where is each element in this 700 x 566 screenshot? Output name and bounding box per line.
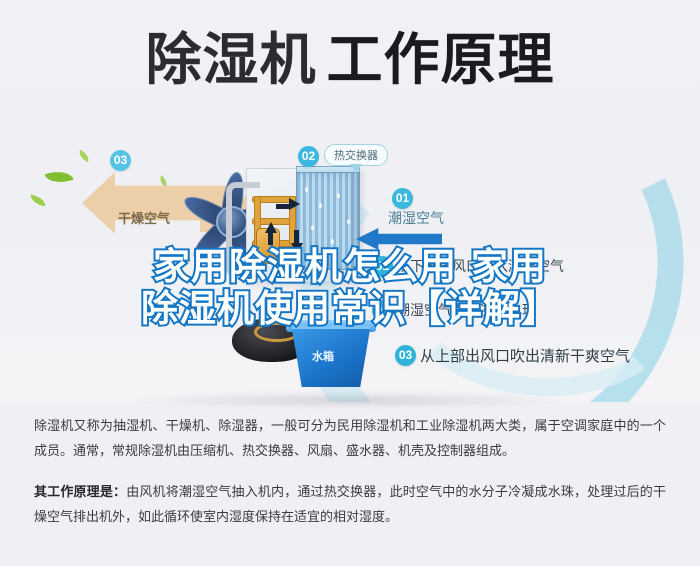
airflow-arrow-up [265, 222, 277, 233]
heat-exchanger-callout: 热交换器 [324, 144, 388, 166]
leaf-icon [29, 195, 46, 207]
page-title: 除湿机工作原理 [0, 30, 700, 90]
dry-air-label: 干燥空气 [118, 208, 170, 227]
water-droplet [331, 239, 334, 244]
badge-01-diagram: 01 [392, 188, 413, 209]
page-title-part-1: 除湿机 [146, 28, 317, 91]
moist-air-label: 潮湿空气 [388, 208, 444, 228]
page-title-part-2: 工作原理 [327, 28, 555, 91]
badge-step-03: 03 [395, 345, 416, 366]
overlay-headline-line-2: 除湿机使用常识【详解】 [0, 288, 700, 330]
airflow-arrow-stem [294, 230, 299, 243]
water-droplet [311, 225, 314, 230]
paragraph-principle: 其工作原理是：由风机将潮湿空气抽入机内，通过热交换器，此时空气中的水分子冷凝成水… [34, 480, 666, 530]
water-droplet [347, 219, 350, 224]
overlay-headline-line-1: 家用除湿机怎么用 家用 [0, 246, 700, 288]
airflow-arrow-right [289, 198, 300, 210]
callout-tail [350, 164, 362, 173]
airflow-arrow-stem [276, 204, 289, 209]
badge-02-diagram: 02 [298, 146, 319, 167]
water-tank-label: 水箱 [312, 348, 334, 364]
airflow-arrow-stem [268, 232, 273, 245]
water-droplet [319, 203, 322, 208]
water-droplet [305, 187, 308, 192]
water-droplet [337, 193, 340, 198]
leaf-icon [77, 150, 91, 162]
step-03-text: 从上部出风口吹出清新干爽空气 [420, 345, 630, 366]
leaf-icon [44, 166, 73, 187]
paragraph-principle-text: 由风机将潮湿空气抽入机内，通过热交换器，此时空气中的水分子冷凝成水珠，处理过后的… [34, 485, 666, 525]
hero-shadow [120, 392, 580, 408]
article-body: 除湿机又称为抽湿机、干燥机、除湿器，一般可分为民用除湿机和工业除湿机两大类，属于… [0, 414, 700, 546]
badge-03-diagram: 03 [110, 150, 131, 171]
paragraph-principle-lead: 其工作原理是： [34, 485, 126, 500]
overlay-headline: 家用除湿机怎么用 家用 除湿机使用常识【详解】 [0, 246, 700, 330]
infographic-hero: 除湿机工作原理 干燥空气 03 [0, 0, 700, 402]
paragraph-definition: 除湿机又称为抽湿机、干燥机、除湿器，一般可分为民用除湿机和工业除湿机两大类，属于… [34, 414, 666, 464]
